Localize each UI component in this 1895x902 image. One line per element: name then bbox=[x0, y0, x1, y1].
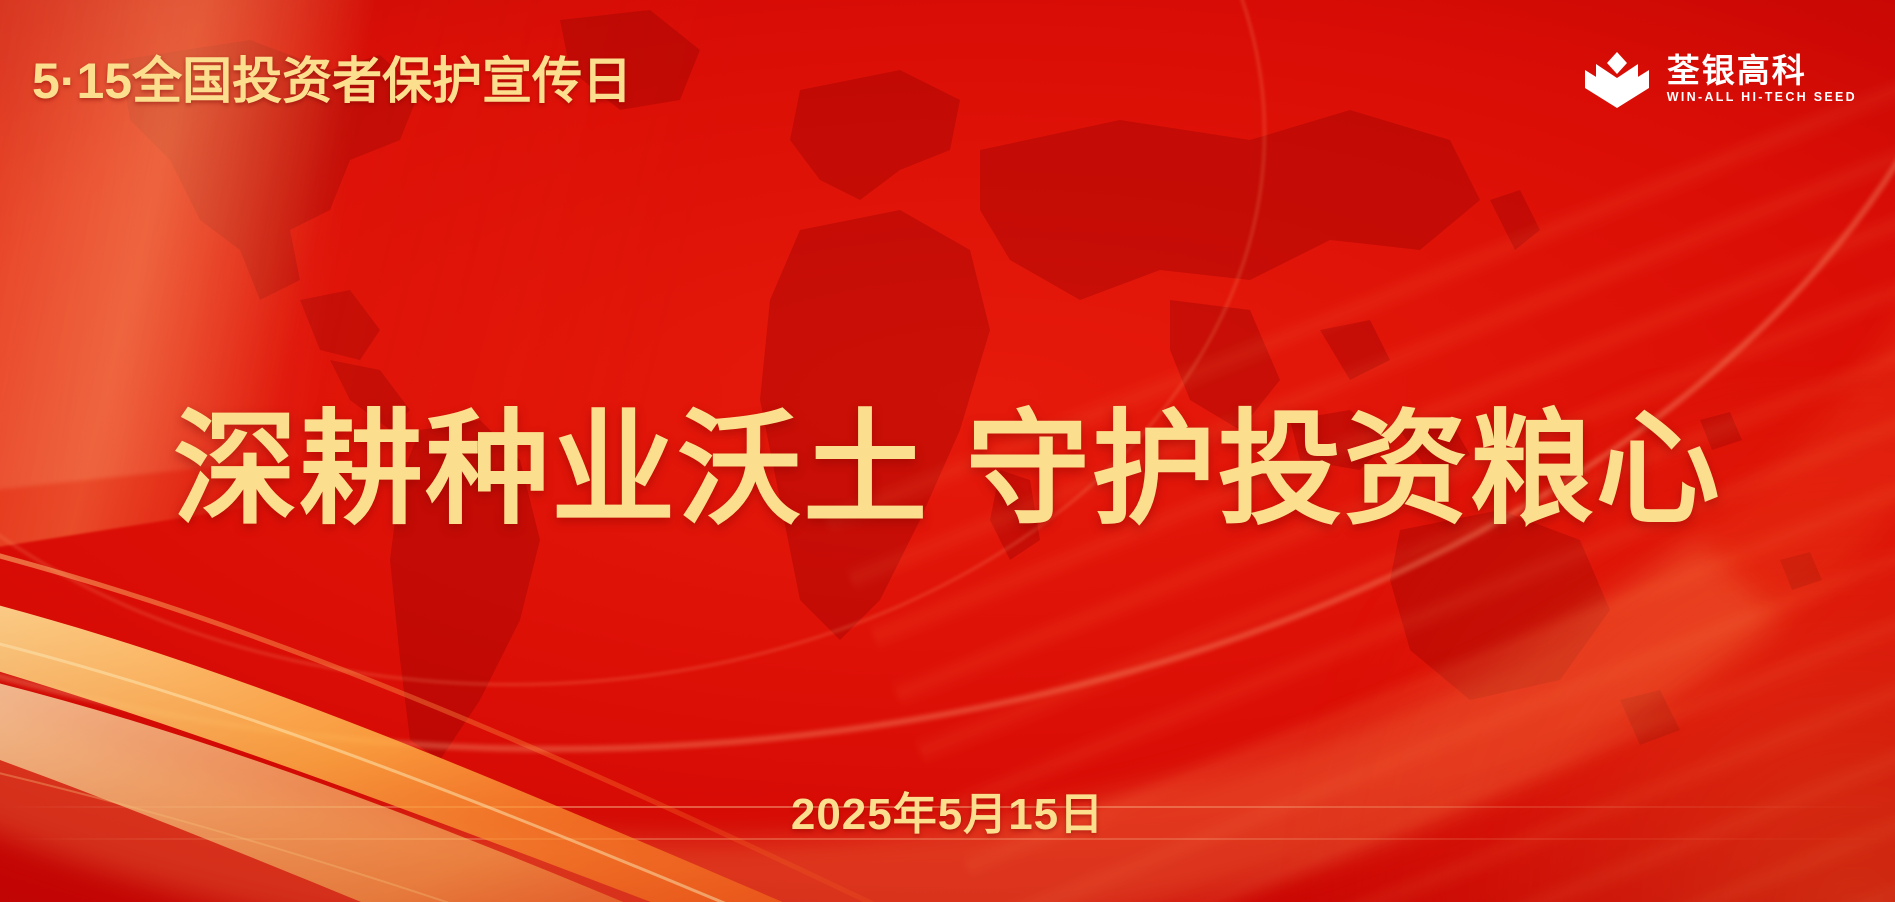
chevron-diamond-icon bbox=[1583, 48, 1651, 110]
company-logo: 荃银高科 WIN-ALL HI-TECH SEED bbox=[1583, 48, 1857, 110]
banner-headline: 深耕种业沃土 守护投资粮心 bbox=[0, 404, 1895, 538]
logo-company-name-en: WIN-ALL HI-TECH SEED bbox=[1667, 91, 1857, 104]
campaign-eyebrow-text: 5·15全国投资者保护宣传日 bbox=[32, 56, 632, 106]
investor-protection-banner: 5·15全国投资者保护宣传日 荃银高科 WIN-ALL HI-TECH SEED… bbox=[0, 0, 1895, 902]
logo-company-name-cn: 荃银高科 bbox=[1667, 54, 1857, 87]
banner-date: 2025年5月15日 bbox=[0, 793, 1895, 837]
logo-text-block: 荃银高科 WIN-ALL HI-TECH SEED bbox=[1667, 54, 1857, 104]
banner-content: 5·15全国投资者保护宣传日 荃银高科 WIN-ALL HI-TECH SEED… bbox=[0, 0, 1895, 902]
